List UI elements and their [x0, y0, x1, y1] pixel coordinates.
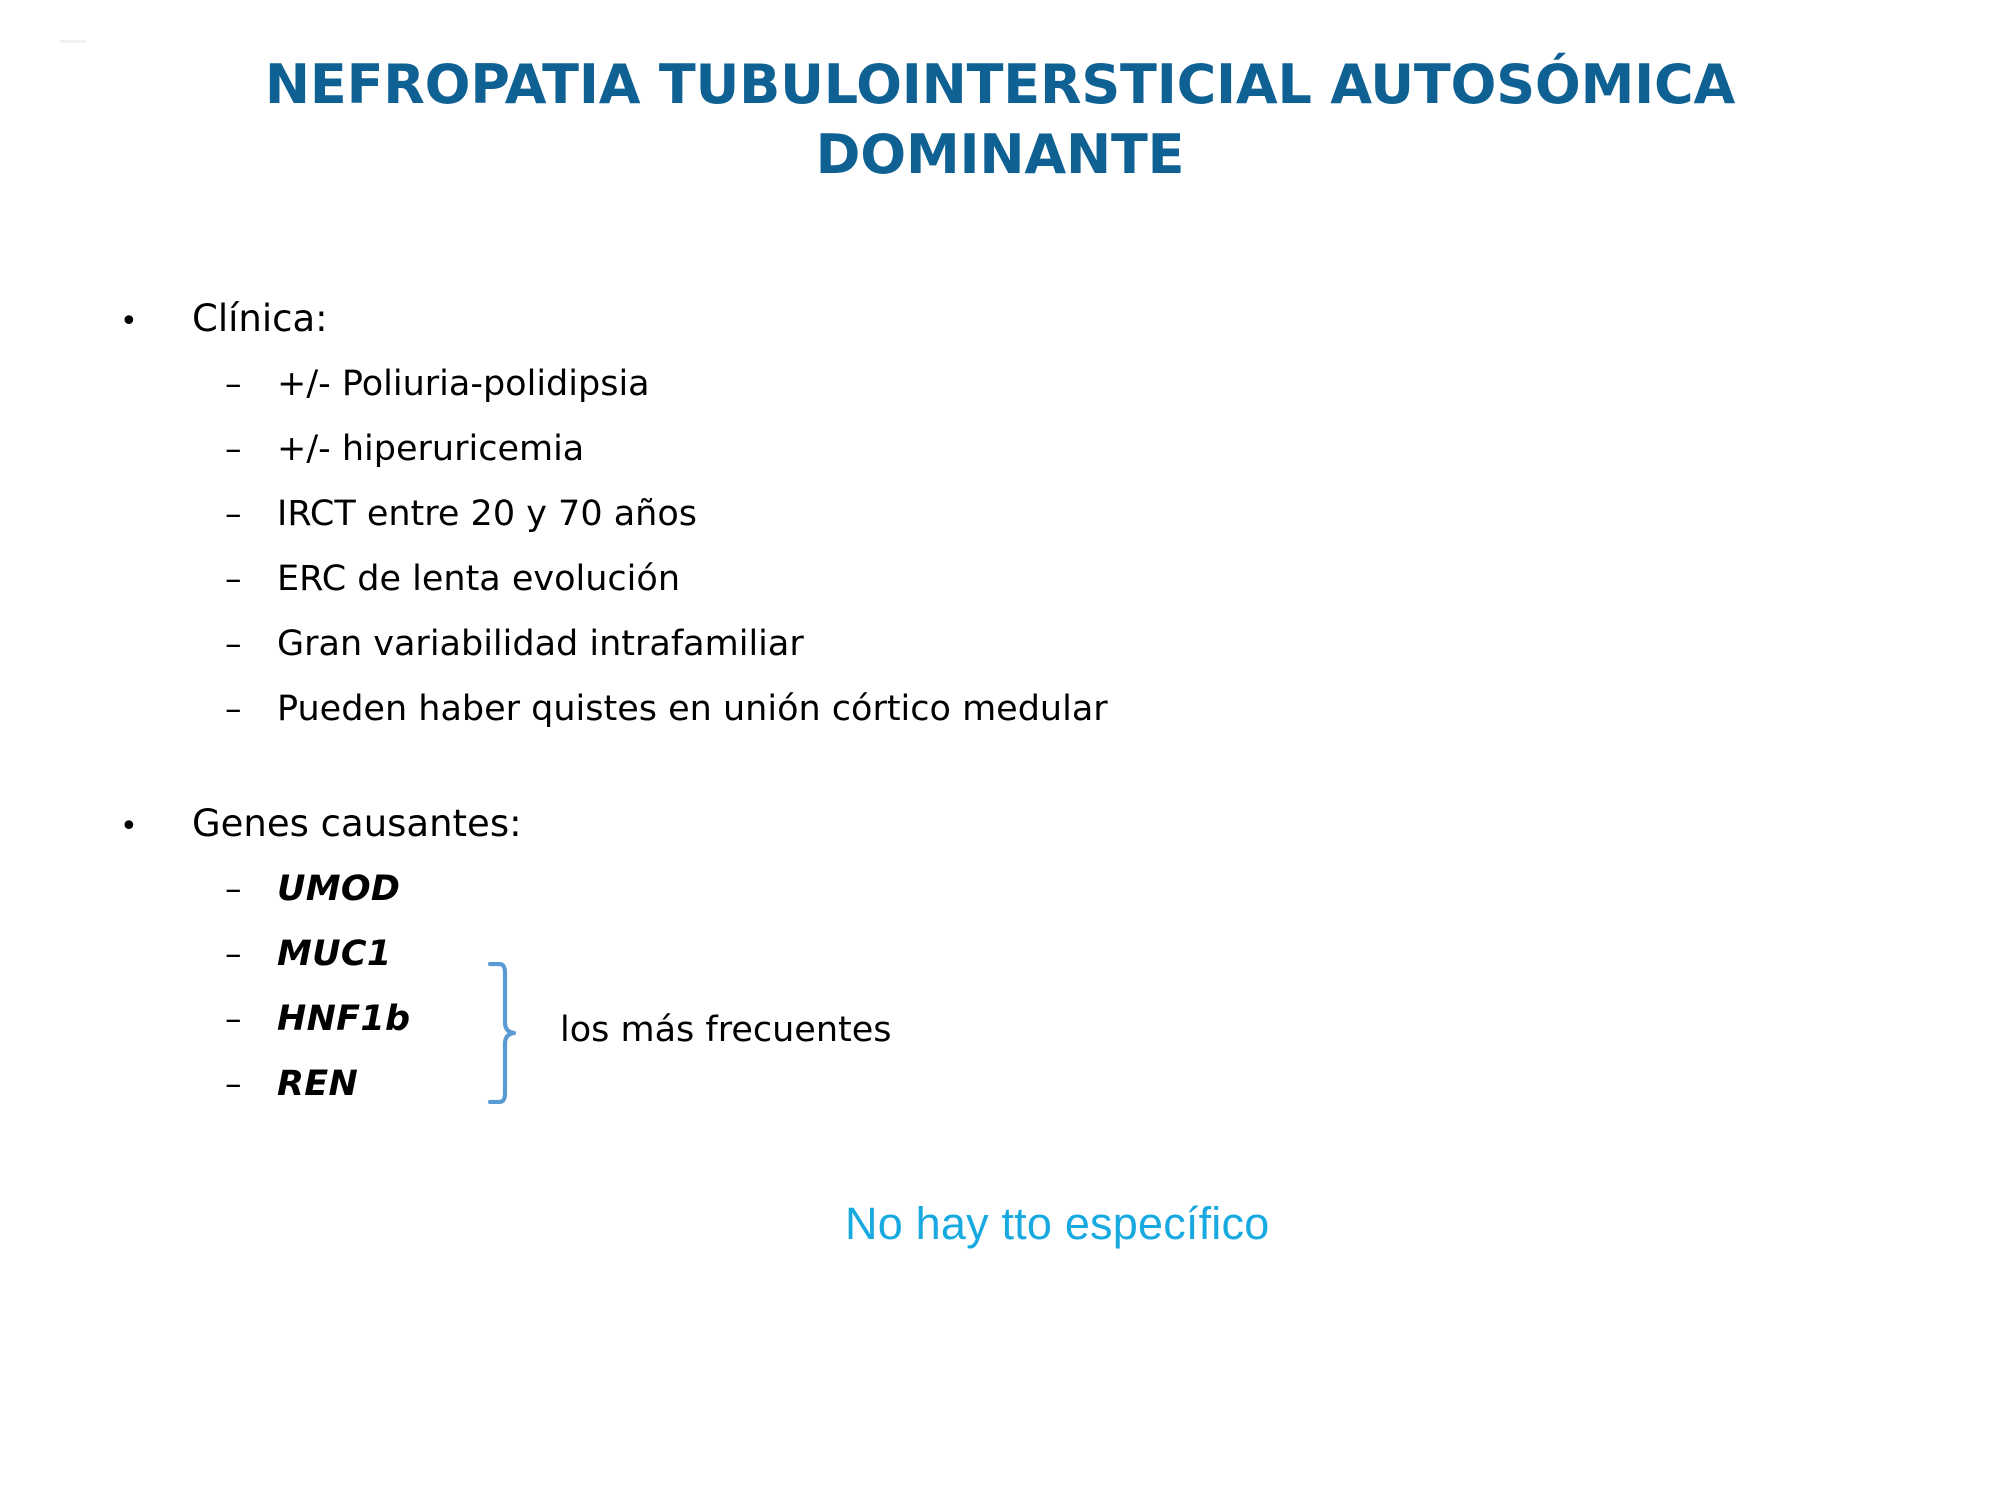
corner-artifact	[60, 40, 86, 43]
dash-bullet-icon: –	[225, 692, 277, 725]
list-item-label: Pueden haber quistes en unión córtico me…	[277, 692, 1108, 727]
dash-bullet-icon: –	[225, 1067, 277, 1100]
bullet-dot-icon: •	[120, 307, 192, 337]
dash-bullet-icon: –	[225, 497, 277, 530]
list-item: – ERC de lenta evolución	[0, 562, 2000, 597]
list-item: – Pueden haber quistes en unión córtico …	[0, 692, 2000, 727]
page-title: NEFROPATIA TUBULOINTERSTICIAL AUTOSÓMICA…	[120, 50, 1880, 190]
dash-bullet-icon: –	[225, 562, 277, 595]
dash-bullet-icon: –	[225, 432, 277, 465]
callout-no-treatment: No hay tto específico	[845, 1198, 1269, 1250]
bullet-clinica-label: Clínica:	[192, 300, 328, 337]
list-item-gene-hnf1b: – HNF1b	[0, 1002, 2000, 1037]
gene-label: UMOD	[277, 872, 400, 907]
list-item-label: IRCT entre 20 y 70 años	[277, 497, 697, 532]
section-spacer	[0, 727, 2000, 805]
bullet-genes-causantes: • Genes causantes:	[0, 805, 2000, 842]
list-item-label: +/- hiperuricemia	[277, 432, 584, 467]
dash-bullet-icon: –	[225, 937, 277, 970]
list-item-label: +/- Poliuria-polidipsia	[277, 367, 650, 402]
list-item: – Gran variabilidad intrafamiliar	[0, 627, 2000, 662]
dash-bullet-icon: –	[225, 627, 277, 660]
gene-label: HNF1b	[277, 1002, 410, 1037]
gene-label: REN	[277, 1067, 358, 1102]
brace-annotation-label: los más frecuentes	[560, 1010, 892, 1050]
list-item: – +/- hiperuricemia	[0, 432, 2000, 467]
bullet-genes-causantes-label: Genes causantes:	[192, 805, 522, 842]
list-item-gene-muc1: – MUC1	[0, 937, 2000, 972]
list-item-label: ERC de lenta evolución	[277, 562, 680, 597]
bullet-dot-icon: •	[120, 812, 192, 842]
dash-bullet-icon: –	[225, 1002, 277, 1035]
dash-bullet-icon: –	[225, 367, 277, 400]
list-item-label: Gran variabilidad intrafamiliar	[277, 627, 804, 662]
list-item: – IRCT entre 20 y 70 años	[0, 497, 2000, 532]
dash-bullet-icon: –	[225, 872, 277, 905]
list-item: – +/- Poliuria-polidipsia	[0, 367, 2000, 402]
slide-body: • Clínica: – +/- Poliuria-polidipsia – +…	[0, 300, 2000, 1102]
gene-label: MUC1	[277, 937, 392, 972]
list-item-gene-ren: – REN	[0, 1067, 2000, 1102]
list-item-gene-umod: – UMOD	[0, 872, 2000, 907]
slide-canvas: NEFROPATIA TUBULOINTERSTICIAL AUTOSÓMICA…	[0, 0, 2000, 1500]
bullet-clinica: • Clínica:	[0, 300, 2000, 337]
